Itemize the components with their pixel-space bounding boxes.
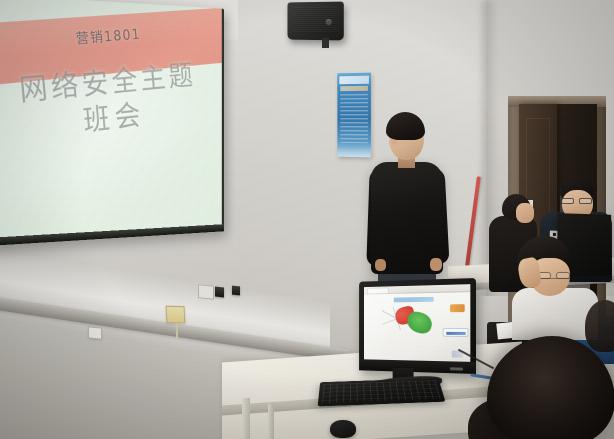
- poster-text-lines: [340, 94, 368, 143]
- keyboard[interactable]: [318, 378, 446, 406]
- glasses-icon: [561, 198, 594, 204]
- presenter-left-hand: [375, 259, 386, 271]
- presenter-body: [371, 162, 443, 274]
- poster-wave-graphic: [337, 141, 371, 158]
- warning-tag: [166, 306, 186, 324]
- browser-tab[interactable]: [367, 287, 388, 293]
- presenter-right-hand: [430, 258, 442, 271]
- network-port[interactable]: [215, 287, 224, 298]
- speaker-icon: [288, 2, 344, 41]
- speaker-grill: [292, 7, 339, 34]
- wall-poster: [337, 73, 371, 158]
- poster-subheader: [340, 86, 368, 91]
- projection-screen-surface: 营销1801 网络安全主题 班会: [0, 0, 222, 239]
- diagram-label-box: [443, 328, 469, 337]
- monitor-brand-mark: [450, 367, 463, 370]
- diagram-shape-orange: [450, 304, 465, 312]
- student-edge-head: [585, 300, 614, 352]
- wall-outlet[interactable]: [88, 326, 102, 339]
- desk-leg: [268, 404, 274, 439]
- mouse[interactable]: [330, 420, 356, 438]
- computer-monitor[interactable]: [359, 278, 476, 374]
- page-header-banner: [394, 297, 434, 303]
- diagram-shape-green: [406, 310, 434, 336]
- desk-leg: [242, 398, 250, 439]
- classroom-photo: 营销1801 网络安全主题 班会: [0, 0, 614, 439]
- student-back-left-face: [516, 203, 534, 223]
- projection-screen: 营销1801 网络安全主题 班会: [0, 0, 224, 246]
- poster-header: [339, 76, 369, 85]
- monitor-screen[interactable]: [364, 284, 470, 362]
- speaker-driver: [326, 19, 332, 25]
- network-port-box: [198, 284, 214, 300]
- network-port[interactable]: [232, 286, 240, 296]
- keyboard-keys: [322, 380, 441, 403]
- speaker-bracket: [322, 38, 329, 48]
- glasses-icon: [537, 272, 570, 279]
